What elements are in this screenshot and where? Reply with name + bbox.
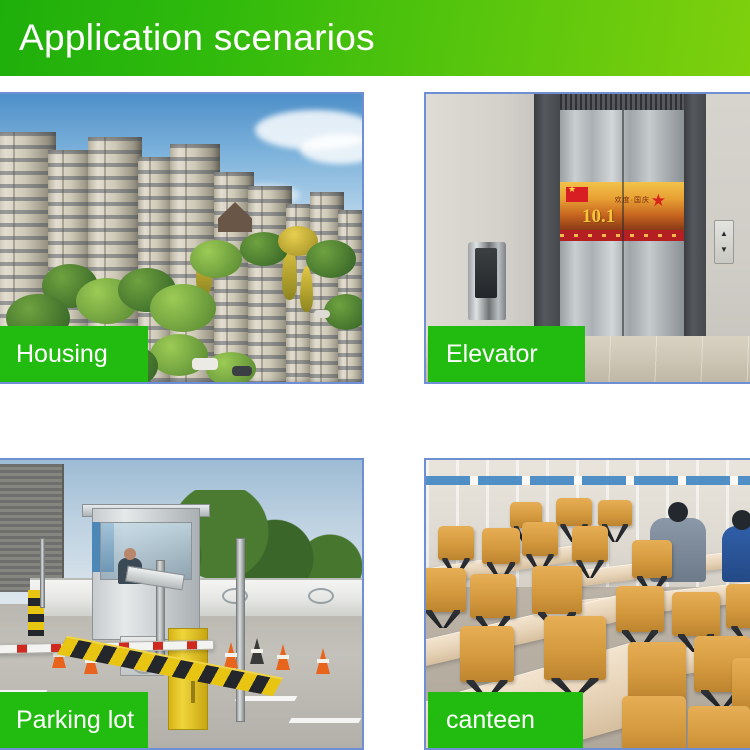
flag-icon: [566, 187, 588, 202]
tree: [150, 284, 216, 332]
wall-logo-icon: [308, 588, 334, 604]
tree: [190, 240, 242, 278]
chair: [628, 642, 686, 700]
chair: [532, 566, 582, 614]
car: [232, 366, 252, 376]
elevator-caption-banner: Elevator: [428, 326, 585, 382]
car: [314, 310, 330, 318]
chair: [470, 574, 516, 618]
ad-chinese-text: 欢度·国庆: [615, 195, 650, 205]
traffic-cone: [316, 648, 330, 674]
tree: [306, 240, 356, 278]
car: [192, 358, 218, 370]
chair: [544, 616, 606, 680]
scenario-card-elevator[interactable]: ★ 欢度·国庆 10.1 ▲ ▼ Elevator: [424, 92, 750, 384]
chair: [598, 500, 632, 526]
canteen-caption-label: canteen: [428, 708, 535, 733]
call-down-button[interactable]: ▼: [720, 246, 728, 254]
chair: [460, 626, 514, 682]
support-pole: [236, 538, 245, 722]
elevator-photo: ★ 欢度·国庆 10.1 ▲ ▼ Elevator: [424, 92, 750, 384]
chair: [572, 526, 608, 562]
chair: [556, 498, 592, 526]
chair: [732, 658, 750, 712]
scenario-card-parking-lot[interactable]: Parking lot: [0, 458, 364, 750]
canteen-photo: canteen: [424, 458, 750, 750]
door-jamb-left: [534, 94, 560, 336]
housing-caption-banner: Housing: [0, 326, 148, 382]
parking-lot-photo: Parking lot: [0, 458, 364, 750]
chair: [482, 528, 520, 564]
seated-person: [722, 526, 750, 582]
traffic-cone: [276, 644, 290, 670]
housing-photo: Housing: [0, 92, 364, 384]
chair: [726, 584, 750, 628]
chair: [616, 586, 664, 632]
chair: [522, 522, 558, 556]
chair: [672, 592, 720, 636]
star-icon: ★: [651, 192, 666, 209]
traffic-cone: [224, 642, 238, 668]
scenario-card-canteen[interactable]: canteen: [424, 458, 750, 750]
elevator-lintel-grille: [560, 94, 684, 110]
light-pole: [40, 538, 45, 608]
door-center-seam: [622, 110, 624, 336]
wall-blue-band: [426, 476, 750, 485]
canteen-caption-banner: canteen: [428, 692, 583, 748]
call-up-button[interactable]: ▲: [720, 230, 728, 238]
chair: [632, 540, 672, 578]
parking-lot-caption-banner: Parking lot: [0, 692, 148, 748]
trash-bin: [468, 242, 506, 320]
housing-caption-label: Housing: [0, 342, 108, 367]
warehouse-building: [0, 464, 64, 592]
lane-marking: [289, 718, 362, 723]
elevator-caption-label: Elevator: [428, 342, 538, 367]
chair: [688, 706, 750, 748]
chair: [622, 696, 686, 748]
elevator-doors[interactable]: ★ 欢度·国庆 10.1: [560, 110, 684, 336]
traffic-cone: [250, 638, 264, 664]
ad-date-number: 10.1: [582, 206, 615, 228]
chair: [426, 568, 466, 612]
parking-lot-caption-label: Parking lot: [0, 708, 134, 733]
scenario-card-housing[interactable]: Housing: [0, 92, 364, 384]
door-jamb-right: [684, 94, 706, 336]
chair: [438, 526, 474, 560]
scenario-grid: Housing ★ 欢度·国庆 10.1: [0, 0, 750, 750]
elevator-call-panel[interactable]: ▲ ▼: [714, 220, 734, 264]
